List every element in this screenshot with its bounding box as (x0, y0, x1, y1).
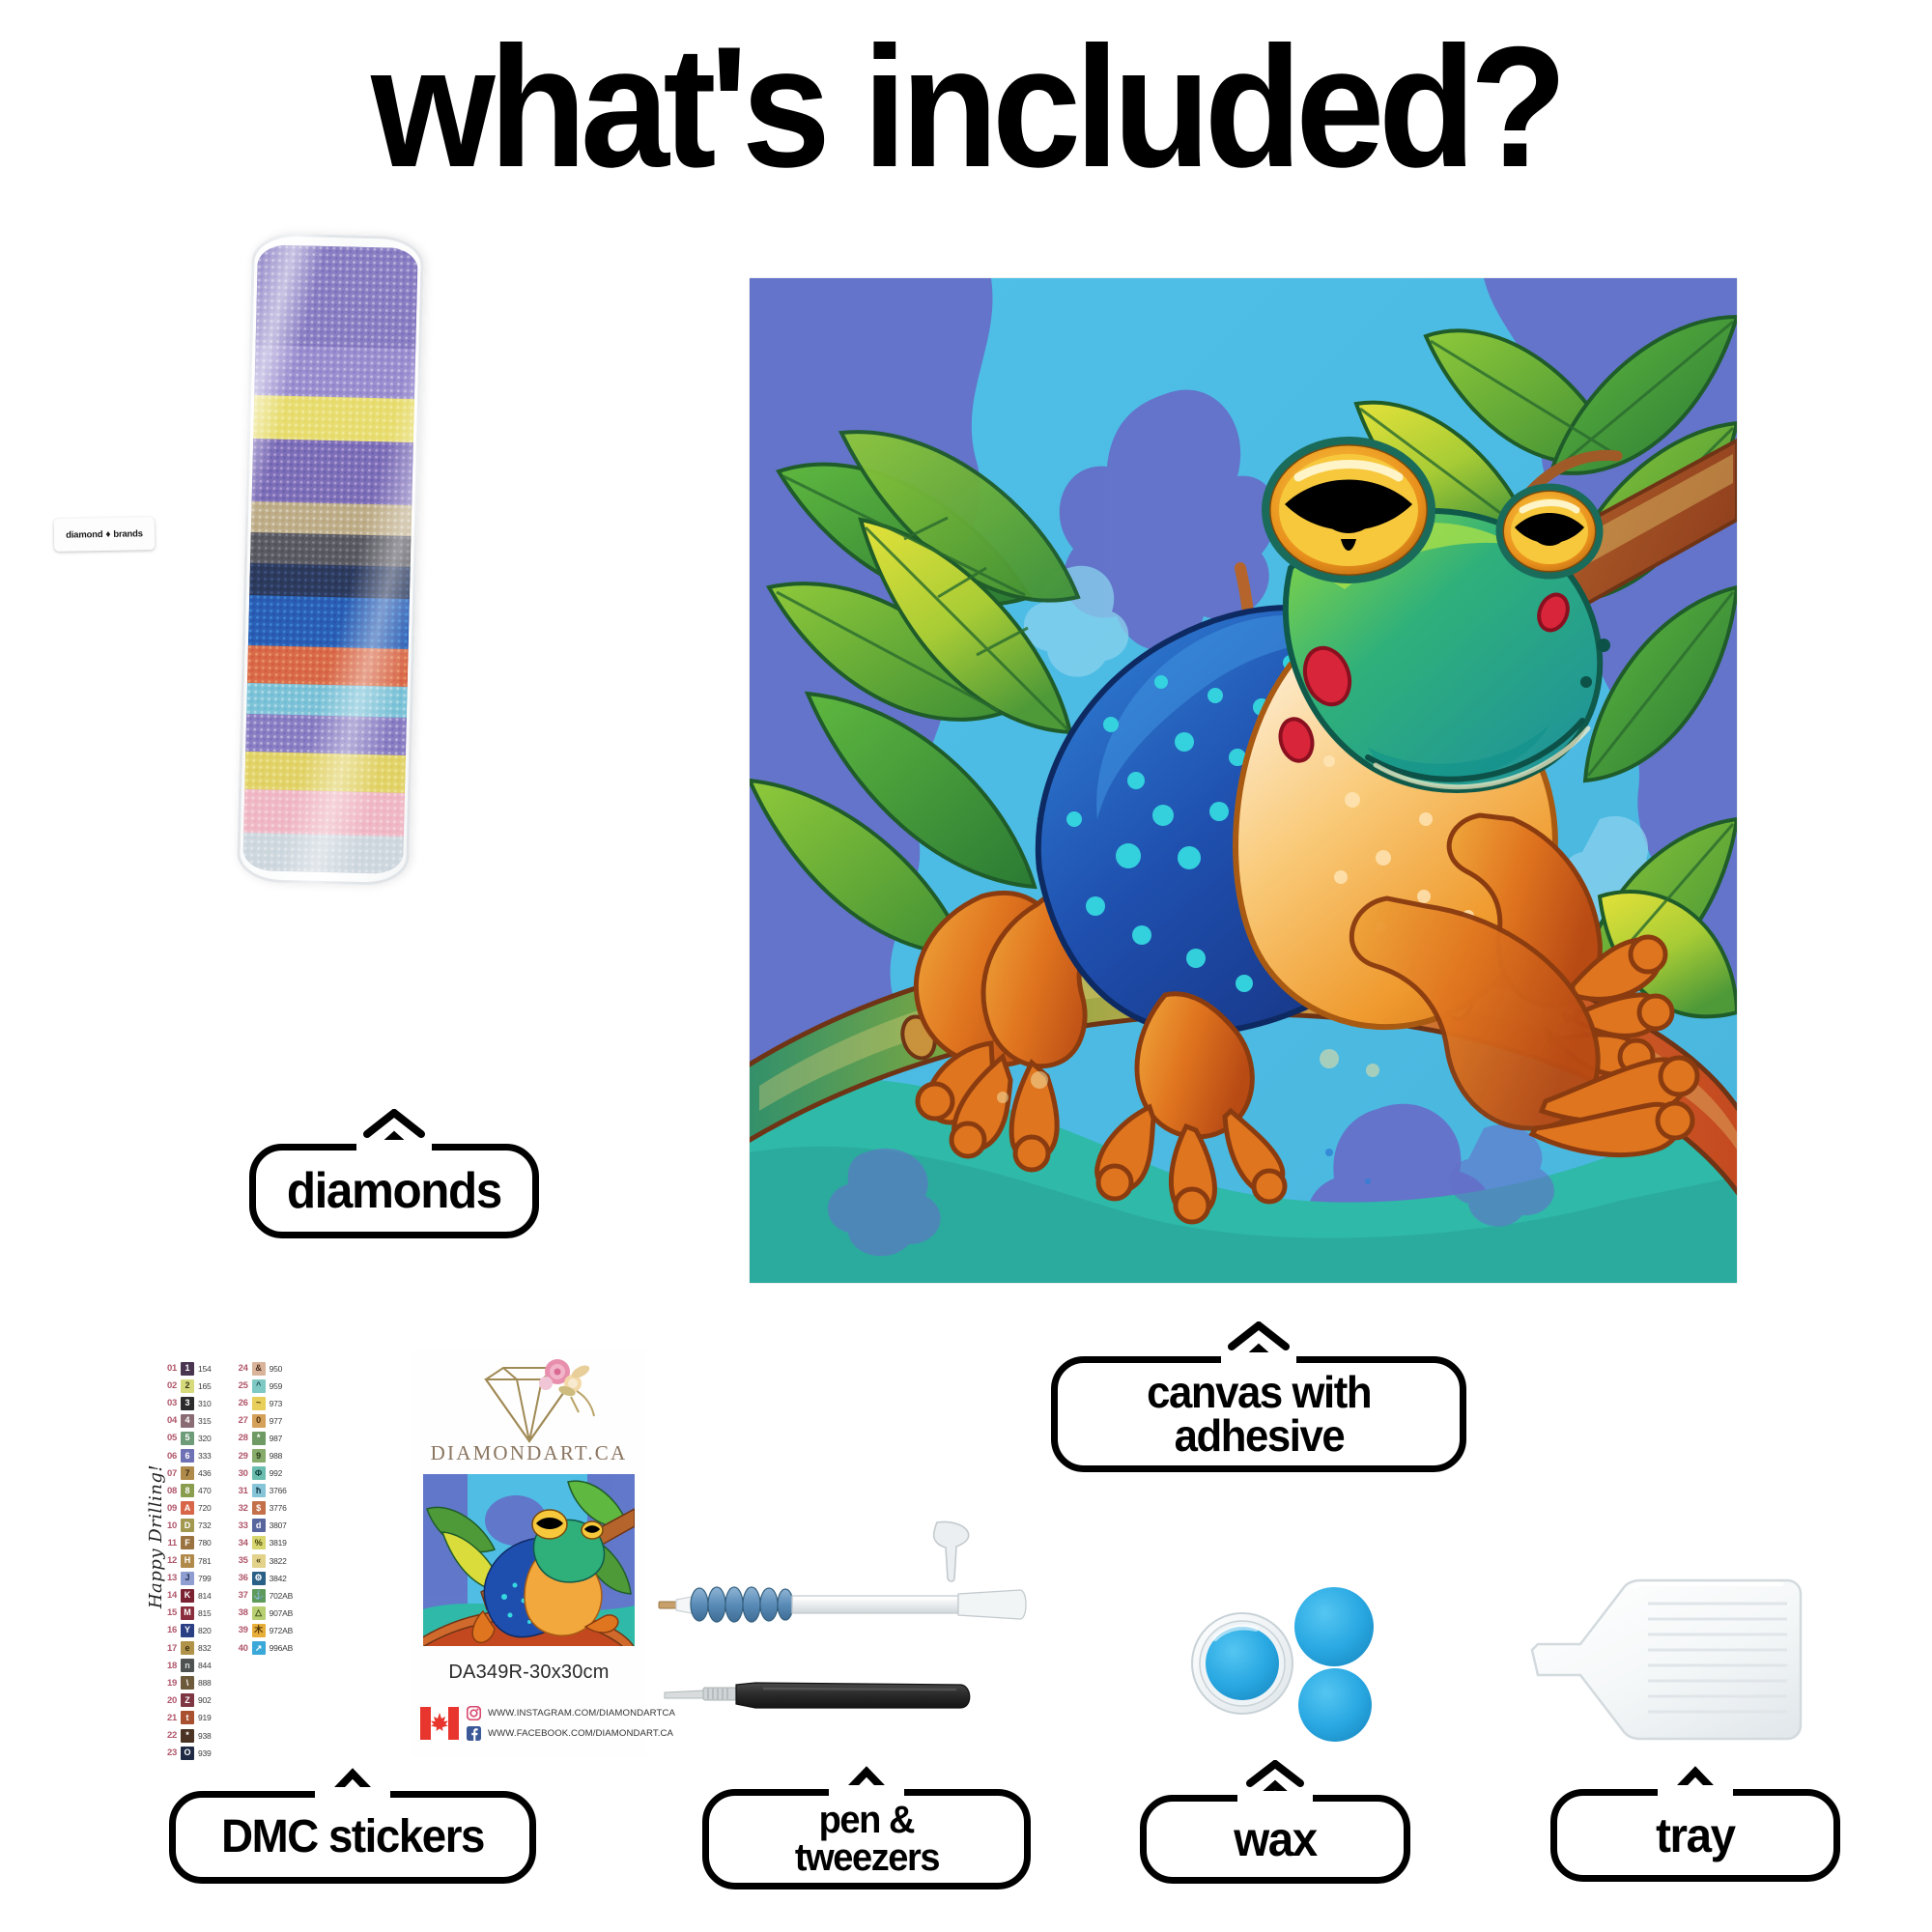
dmc-row: 044315 (161, 1412, 212, 1429)
bag-band (242, 833, 404, 874)
dmc-sticker-sheet: Happy Drilling! 011154022165033310044315… (111, 1352, 386, 1777)
dmc-row: 022165 (161, 1378, 212, 1394)
dmc-index: 09 (161, 1503, 177, 1514)
dmc-symbol-chip: D (181, 1519, 194, 1532)
bag-band-grain (251, 439, 413, 509)
instagram-url: WWW.INSTAGRAM.COM/DIAMONDARTCA (488, 1708, 675, 1719)
dmc-symbol-chip: ^ (252, 1379, 266, 1393)
dmc-code: 333 (198, 1451, 212, 1461)
dmc-index: 26 (233, 1398, 248, 1408)
dmc-index: 08 (161, 1486, 177, 1496)
dmc-code: 888 (198, 1678, 212, 1688)
dmc-code: 950 (270, 1364, 283, 1374)
dmc-index: 30 (233, 1468, 248, 1479)
dmc-symbol-chip: 3 (181, 1397, 194, 1410)
dmc-code: 938 (198, 1731, 212, 1741)
dmc-row: 35«3822 (233, 1552, 294, 1569)
pen-and-tweezers-image (649, 1519, 1065, 1760)
dmc-row: 055320 (161, 1430, 212, 1446)
callout-pen-line1: pen & (810, 1802, 923, 1839)
dmc-code: 820 (198, 1626, 212, 1635)
bag-band-grain (242, 833, 404, 874)
diamond-floral-logo-icon (411, 1358, 647, 1452)
dmc-row: 34%3819 (233, 1535, 294, 1551)
dmc-index: 25 (233, 1380, 248, 1391)
dmc-index: 01 (161, 1363, 177, 1374)
dmc-index: 11 (161, 1538, 177, 1548)
callout-wax-label: wax (1225, 1816, 1326, 1863)
callout-wax-box[interactable]: wax (1140, 1795, 1410, 1884)
dmc-code: 992 (270, 1468, 283, 1478)
callout-dmc-stickers: DMC stickers (169, 1777, 536, 1884)
bag-brand-left: diamond (66, 529, 102, 541)
instagram-icon (467, 1706, 481, 1720)
callout-diamonds: diamonds (249, 1109, 539, 1238)
dmc-code: 799 (198, 1574, 212, 1583)
brand-info-card: DIAMONDART.CA (411, 1350, 647, 1756)
dmc-index: 31 (233, 1486, 248, 1496)
bag-color-bands (242, 244, 418, 874)
dmc-index: 07 (161, 1468, 177, 1479)
dmc-row: 011154 (161, 1360, 212, 1377)
dmc-code: 977 (270, 1416, 283, 1426)
bag-band (248, 595, 410, 653)
dmc-index: 14 (161, 1590, 177, 1601)
dmc-code: 814 (198, 1591, 212, 1601)
dmc-index: 19 (161, 1678, 177, 1689)
callout-canvas-line1: canvas with (1137, 1371, 1379, 1414)
dmc-row: 033310 (161, 1395, 212, 1411)
dmc-index: 27 (233, 1415, 248, 1426)
canada-flag-icon (420, 1707, 459, 1740)
product-thumbnail-art (423, 1474, 635, 1646)
dmc-row: 21t919 (161, 1710, 212, 1726)
dmc-symbol-chip: Φ (252, 1466, 266, 1480)
dmc-code: 919 (198, 1713, 212, 1722)
dmc-symbol-chip: F (181, 1536, 194, 1549)
dmc-code: 972AB (270, 1626, 294, 1635)
dmc-code: 3807 (270, 1520, 287, 1530)
dmc-code: 3822 (270, 1556, 287, 1566)
dmc-symbol-chip: Z (181, 1693, 194, 1707)
dmc-index: 02 (161, 1380, 177, 1391)
callout-canvas-box[interactable]: canvas with adhesive (1051, 1356, 1466, 1472)
dmc-row: 23O939 (161, 1745, 212, 1761)
dmc-symbol-chip: 8 (181, 1484, 194, 1497)
callout-tray-label: tray (1647, 1812, 1744, 1860)
dmc-row: 17e832 (161, 1640, 212, 1657)
dmc-row: 299988 (233, 1447, 294, 1463)
dmc-symbol-chip: % (252, 1536, 266, 1549)
dmc-code: 902 (198, 1695, 212, 1705)
dmc-symbol-chip: ⚙ (252, 1572, 266, 1585)
dmc-index: 24 (233, 1363, 248, 1374)
dmc-symbol-chip: 4 (181, 1414, 194, 1428)
dmc-symbol-chip: Y (181, 1624, 194, 1637)
dmc-symbol-chip: t (181, 1711, 194, 1724)
dmc-index: 40 (233, 1643, 248, 1654)
dmc-row: 37⚓702AB (233, 1587, 294, 1604)
dmc-symbol-chip: \ (181, 1676, 194, 1690)
dmc-index: 29 (233, 1451, 248, 1462)
dmc-symbol-chip: 9 (252, 1449, 266, 1463)
bag-plastic-wrap (237, 233, 424, 886)
dmc-code: 154 (198, 1364, 212, 1374)
dmc-row: 16Y820 (161, 1622, 212, 1638)
dmc-index: 21 (161, 1713, 177, 1723)
dmc-code: 939 (198, 1748, 212, 1758)
dmc-code: 3766 (270, 1486, 287, 1495)
bag-band (254, 345, 415, 403)
dmc-symbol-chip: 7 (181, 1466, 194, 1480)
dmc-row: 36⚙3842 (233, 1570, 294, 1586)
dmc-symbol-chip: ~ (252, 1397, 266, 1410)
dmc-row: 11F780 (161, 1535, 212, 1551)
dmc-row: 25^959 (233, 1378, 294, 1394)
wax-disc-top (1294, 1587, 1374, 1666)
diamond-gem-icon: ♦ (105, 528, 110, 539)
callout-canvas-line2: adhesive (1165, 1414, 1353, 1458)
instagram-link[interactable]: WWW.INSTAGRAM.COM/DIAMONDARTCA (467, 1706, 675, 1720)
dmc-code: 470 (198, 1486, 212, 1495)
wax-image (1180, 1565, 1432, 1758)
dmc-index: 36 (233, 1573, 248, 1583)
dmc-row: 38△907AB (233, 1605, 294, 1621)
dmc-symbol-chip: & (252, 1362, 266, 1376)
product-thumbnail (423, 1474, 635, 1646)
dmc-column: 24&95025^95926~97327097728*98729998830Φ9… (233, 1360, 294, 1761)
dmc-symbol-chip: J (181, 1572, 194, 1585)
dmc-index: 33 (233, 1520, 248, 1531)
dmc-code: 988 (270, 1451, 283, 1461)
dmc-symbol-chip: 0 (252, 1414, 266, 1428)
callout-dmc-box[interactable]: DMC stickers (169, 1791, 536, 1884)
callout-tray-box[interactable]: tray (1550, 1789, 1840, 1882)
bag-band-grain (255, 244, 418, 353)
dmc-code: 436 (198, 1468, 212, 1478)
diamonds-bag-image (237, 233, 424, 886)
tweezers (665, 1683, 970, 1708)
dmc-row: 066333 (161, 1447, 212, 1463)
dmc-row: 32$3776 (233, 1500, 294, 1517)
dmc-code: 959 (270, 1381, 283, 1391)
dmc-row: 09A720 (161, 1500, 212, 1517)
callout-tray: tray (1550, 1776, 1840, 1882)
dmc-row: 24&950 (233, 1360, 294, 1377)
dmc-row: 30Φ992 (233, 1465, 294, 1482)
tray-image (1524, 1544, 1853, 1771)
dmc-row: 31ħ3766 (233, 1483, 294, 1499)
dmc-symbol-chip: ⚓ (252, 1589, 266, 1603)
dmc-row: 39木972AB (233, 1622, 294, 1638)
dmc-symbol-chip: e (181, 1641, 194, 1655)
bag-band-grain (248, 595, 410, 653)
dmc-index: 37 (233, 1590, 248, 1601)
tray-illustration (1524, 1544, 1853, 1771)
dmc-row: 14K814 (161, 1587, 212, 1604)
dmc-index: 16 (161, 1625, 177, 1635)
dmc-code: 987 (270, 1434, 283, 1443)
dmc-symbol-chip: K (181, 1589, 194, 1603)
dmc-code: 320 (198, 1434, 212, 1443)
dmc-symbol-chip: n (181, 1659, 194, 1672)
dmc-index: 32 (233, 1503, 248, 1514)
dmc-row: 12H781 (161, 1552, 212, 1569)
dmc-code: 3776 (270, 1503, 287, 1513)
dmc-symbol-chip: * (181, 1729, 194, 1743)
dmc-index: 34 (233, 1538, 248, 1548)
wax-illustration (1180, 1565, 1432, 1758)
dmc-symbol-chip: 5 (181, 1432, 194, 1445)
dmc-code: 310 (198, 1399, 212, 1408)
wax-pot (1192, 1613, 1293, 1714)
dmc-code: 815 (198, 1608, 212, 1618)
dmc-code: 996AB (270, 1643, 294, 1653)
dmc-index: 12 (161, 1555, 177, 1566)
dmc-symbol-chip: H (181, 1554, 194, 1568)
wax-disc-bottom (1298, 1668, 1372, 1742)
dmc-column: 0111540221650333100443150553200663330774… (161, 1360, 212, 1761)
bag-brand-label: diamond ♦ brands (54, 517, 156, 552)
brand-name: DIAMONDART.CA (411, 1441, 647, 1465)
dmc-code: 165 (198, 1381, 212, 1391)
callout-pen-line2: tweezers (785, 1839, 948, 1877)
dmc-symbol-chip: d (252, 1519, 266, 1532)
callout-canvas-with-adhesive: canvas with adhesive (1051, 1321, 1466, 1472)
dmc-index: 39 (233, 1625, 248, 1635)
dmc-symbol-chip: 木 (252, 1624, 266, 1637)
dmc-symbol-chip: O (181, 1747, 194, 1760)
callout-pen-tweezers: pen & tweezers (702, 1776, 1031, 1889)
dmc-code: 315 (198, 1416, 212, 1426)
dmc-index: 06 (161, 1451, 177, 1462)
dmc-code: 3819 (270, 1538, 287, 1548)
facebook-icon (467, 1726, 481, 1741)
bag-band (251, 439, 413, 509)
product-code: DA349R-30x30cm (411, 1662, 647, 1684)
dmc-index: 13 (161, 1573, 177, 1583)
dmc-code: 780 (198, 1538, 212, 1548)
dmc-row: 40↗996AB (233, 1640, 294, 1657)
dmc-code: 973 (270, 1399, 283, 1408)
dmc-symbol-chip: A (181, 1501, 194, 1515)
dmc-index: 15 (161, 1607, 177, 1618)
bag-band (255, 244, 418, 353)
dmc-row: 270977 (233, 1412, 294, 1429)
bag-band-grain (254, 345, 415, 403)
dmc-symbol-chip: 1 (181, 1362, 194, 1376)
dmc-index: 38 (233, 1607, 248, 1618)
dmc-row: 19\888 (161, 1675, 212, 1691)
dmc-code: 732 (198, 1520, 212, 1530)
dmc-row: 18n844 (161, 1658, 212, 1674)
dmc-index: 03 (161, 1398, 177, 1408)
canvas-artwork-image (750, 278, 1737, 1283)
dmc-code: 907AB (270, 1608, 294, 1618)
dmc-index: 28 (233, 1433, 248, 1443)
dmc-index: 17 (161, 1643, 177, 1654)
drill-pen (659, 1587, 1026, 1622)
dmc-index: 05 (161, 1433, 177, 1443)
dmc-row: 20Z902 (161, 1692, 212, 1709)
dmc-symbol-chip: M (181, 1606, 194, 1620)
dmc-code: 781 (198, 1556, 212, 1566)
dmc-code: 844 (198, 1661, 212, 1670)
pen-tweezers-illustration (649, 1519, 1065, 1760)
dmc-row: 26~973 (233, 1395, 294, 1411)
dmc-code: 702AB (270, 1591, 294, 1601)
dmc-row: 088470 (161, 1483, 212, 1499)
dmc-index: 22 (161, 1730, 177, 1741)
page-title: what's included? (68, 17, 1864, 198)
dmc-symbol-chip: $ (252, 1501, 266, 1515)
dmc-symbol-chip: « (252, 1554, 266, 1568)
facebook-link[interactable]: WWW.FACEBOOK.COM/DIAMONDART.CA (467, 1726, 675, 1741)
dmc-index: 10 (161, 1520, 177, 1531)
brand-socials: WWW.INSTAGRAM.COM/DIAMONDARTCA WWW.FACEB… (420, 1706, 675, 1741)
facebook-url: WWW.FACEBOOK.COM/DIAMONDART.CA (488, 1728, 673, 1739)
dmc-row: 15M815 (161, 1605, 212, 1621)
dmc-index: 35 (233, 1555, 248, 1566)
dmc-symbol-chip: * (252, 1432, 266, 1445)
dmc-index: 23 (161, 1747, 177, 1758)
dmc-symbol-chip: 2 (181, 1379, 194, 1393)
dmc-row: 077436 (161, 1465, 212, 1482)
dmc-index: 20 (161, 1695, 177, 1706)
dmc-row: 33d3807 (233, 1518, 294, 1534)
dmc-row: 28*987 (233, 1430, 294, 1446)
dmc-color-chart: 0111540221650333100443150553200663330774… (161, 1360, 293, 1761)
dmc-symbol-chip: ħ (252, 1484, 266, 1497)
dmc-symbol-chip: △ (252, 1606, 266, 1620)
dmc-code: 832 (198, 1643, 212, 1653)
callout-wax: wax (1140, 1766, 1410, 1884)
dmc-symbol-chip: 6 (181, 1449, 194, 1463)
callout-diamonds-label: diamonds (278, 1167, 511, 1216)
callout-pen-box[interactable]: pen & tweezers (702, 1789, 1031, 1889)
callout-diamonds-box[interactable]: diamonds (249, 1144, 539, 1238)
dmc-row: 10D732 (161, 1518, 212, 1534)
frog-illustration (750, 278, 1737, 1283)
dmc-index: 18 (161, 1661, 177, 1671)
dmc-code: 3842 (270, 1574, 287, 1583)
dmc-row: 13J799 (161, 1570, 212, 1586)
pen-tip-accessory (934, 1521, 969, 1581)
dmc-code: 720 (198, 1503, 212, 1513)
dmc-index: 04 (161, 1415, 177, 1426)
dmc-row: 22*938 (161, 1727, 212, 1744)
dmc-symbol-chip: ↗ (252, 1641, 266, 1655)
bag-brand-right: brands (113, 528, 143, 540)
callout-dmc-label: DMC stickers (213, 1814, 494, 1860)
